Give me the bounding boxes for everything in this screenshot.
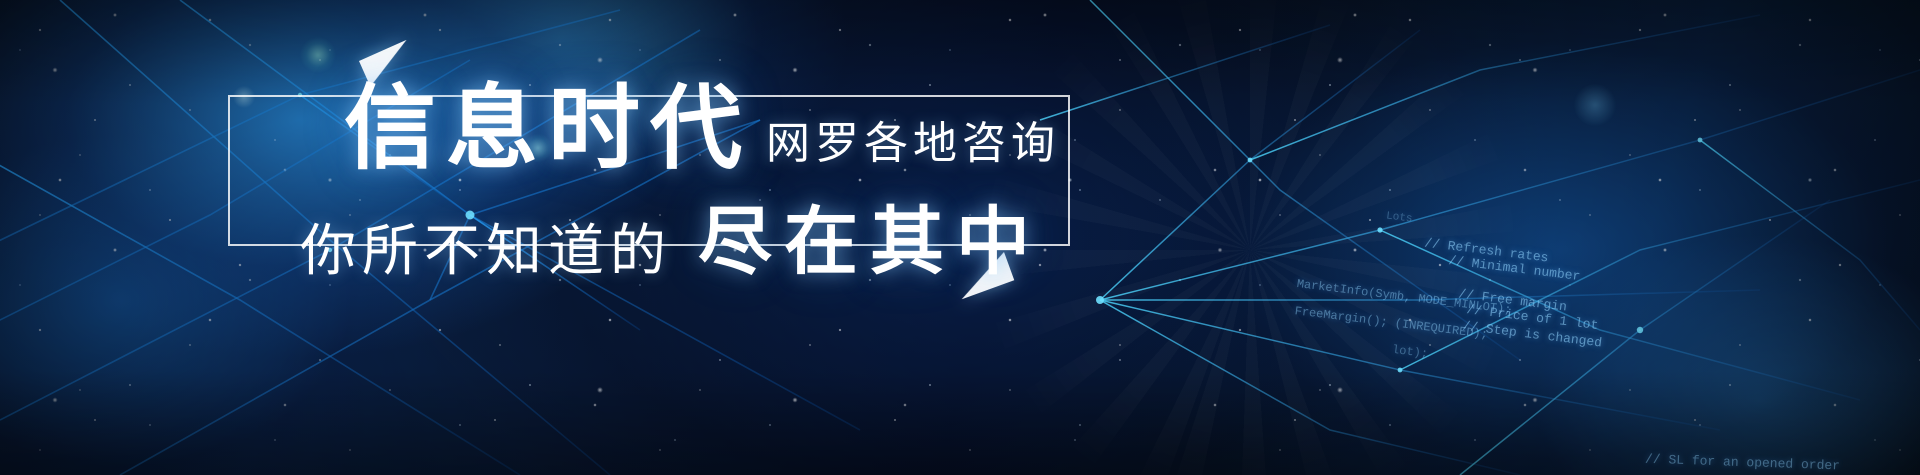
tagline-row: 你所不知道的 尽在其中 (300, 205, 1042, 279)
background-code-line: FreeMargin(); (INREQUIRED); (1294, 304, 1489, 342)
headline-row: 信息时代 网罗各地咨询 (344, 84, 1060, 174)
tagline-emphasis-text: 尽在其中 (698, 205, 1042, 279)
background-code-line: // Refresh rates (1424, 235, 1550, 265)
headline-main-title: 信息时代 (344, 84, 752, 174)
background-code-line: // Step is changed (1462, 318, 1603, 350)
background-code-line: Lots (1385, 210, 1413, 225)
background-code-line: lot); (1391, 343, 1428, 361)
background-code-line: // Free margin (1457, 286, 1567, 314)
headline-subtitle: 网罗各地咨询 (766, 122, 1060, 166)
tagline-text: 你所不知道的 (300, 223, 672, 279)
hero-banner: 信息时代 网罗各地咨询 你所不知道的 尽在其中 // Refresh rates… (0, 0, 1920, 475)
background-code-line: // SL for an opened order (1645, 452, 1840, 474)
background-code-line: MarketInfo(Symb, MODE_MINLOT); (1296, 277, 1512, 317)
background-code-line: // Price of 1 lot (1466, 302, 1599, 333)
background-code-line: // Minimal number (1448, 253, 1581, 284)
banner-content: 信息时代 网罗各地咨询 你所不知道的 尽在其中 // Refresh rates… (0, 0, 1920, 475)
